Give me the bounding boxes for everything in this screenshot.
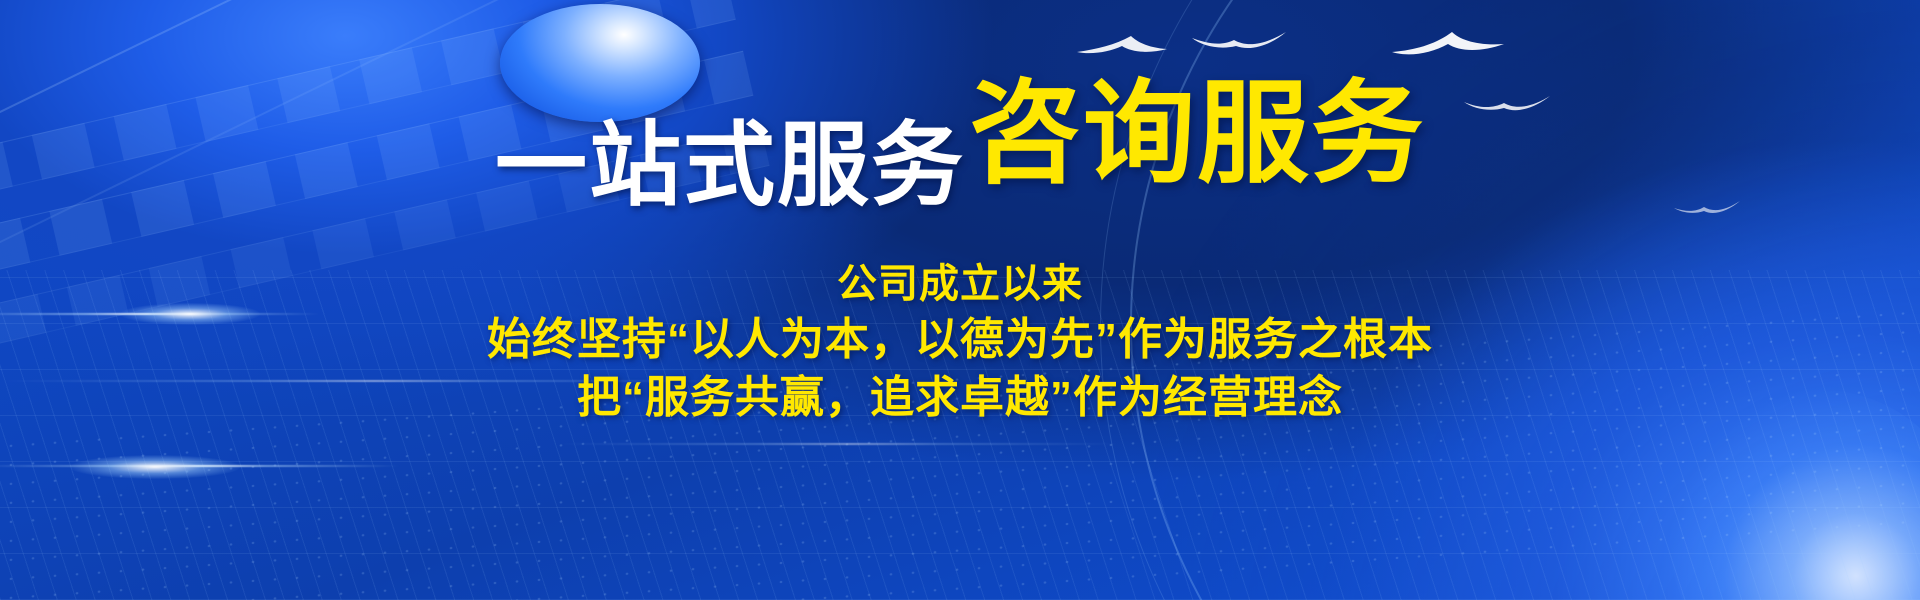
headline-accent: 咨询服务 xyxy=(969,78,1425,190)
light-streak xyxy=(0,465,400,467)
seagull-icon xyxy=(1390,28,1510,64)
light-streak-glow xyxy=(70,455,240,479)
promo-banner: 一站式服务 咨询服务 公司成立以来 始终坚持“以人为本，以德为先”作为服务之根本… xyxy=(0,0,1920,600)
body-line: 始终坚持“以人为本，以德为先”作为服务之根本 xyxy=(0,311,1920,369)
headline-primary: 一站式服务 xyxy=(495,120,965,212)
seagull-icon xyxy=(1672,196,1742,218)
body-line: 公司成立以来 xyxy=(0,258,1920,311)
light-streak xyxy=(560,443,1120,445)
body-line: 把“服务共赢，追求卓越”作为经营理念 xyxy=(0,369,1920,427)
seagull-icon xyxy=(1075,32,1185,66)
headline: 一站式服务 咨询服务 xyxy=(0,72,1920,184)
seagull-icon xyxy=(1190,22,1290,54)
body-text-block: 公司成立以来 始终坚持“以人为本，以德为先”作为服务之根本 把“服务共赢，追求卓… xyxy=(0,258,1920,427)
